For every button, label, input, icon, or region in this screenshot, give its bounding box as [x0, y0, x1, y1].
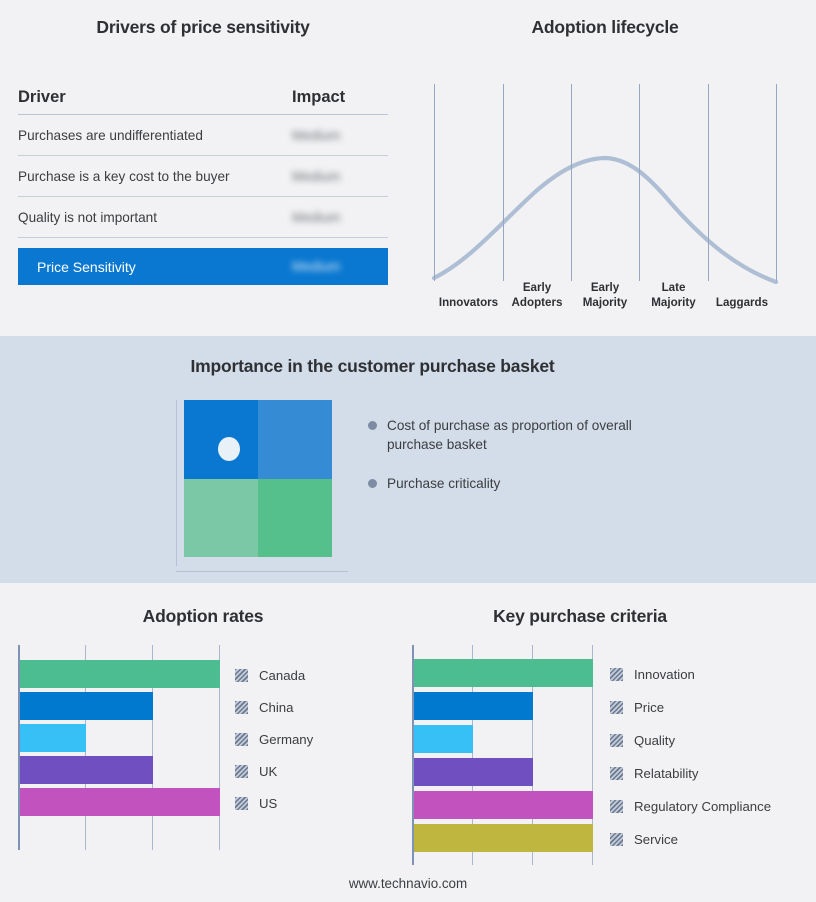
quadrant-matrix: [176, 400, 348, 572]
lifecycle-segment-laggards: Laggards: [708, 296, 776, 311]
bar-us: [20, 788, 220, 816]
lifecycle-divider: [503, 84, 504, 281]
legend-item: Quality: [610, 724, 771, 757]
lifecycle-curve: [430, 84, 780, 310]
adoption-rates-plot: [18, 645, 222, 850]
bar-regulatory-compliance: [414, 791, 593, 819]
legend-swatch-icon: [610, 734, 623, 747]
segment-line2: Innovators: [434, 296, 503, 311]
summary-impact-value: Medium: [292, 259, 388, 274]
legend-item: US: [235, 787, 313, 819]
basket-legend: Cost of purchase as proportion of overal…: [368, 416, 668, 513]
lifecycle-divider: [776, 84, 777, 281]
segment-line2: Majority: [639, 296, 708, 311]
legend-swatch-icon: [610, 668, 623, 681]
legend-swatch-icon: [610, 800, 623, 813]
table-header-row: Driver Impact: [18, 88, 388, 115]
quadrant-grid: [184, 400, 332, 557]
bullet-icon: [368, 479, 377, 488]
segment-line1: Early: [503, 281, 571, 296]
legend-item: Relatability: [610, 757, 771, 790]
lifecycle-segment-early-majority: Early Majority: [571, 281, 639, 310]
legend-label: Regulatory Compliance: [634, 799, 771, 814]
column-header-impact: Impact: [292, 88, 388, 107]
price-sensitivity-summary-row: Price Sensitivity Medium: [18, 248, 388, 285]
legend-label: Cost of purchase as proportion of overal…: [387, 416, 642, 454]
legend-label: Innovation: [634, 667, 695, 682]
key-purchase-criteria-chart: Innovation Price Quality Relatability Re…: [412, 645, 808, 865]
legend-swatch-icon: [235, 797, 248, 810]
driver-name: Quality is not important: [18, 210, 292, 225]
quadrant-cell-bottom-right: [258, 479, 332, 558]
legend-item: Innovation: [610, 658, 771, 691]
legend-label: Price: [634, 700, 664, 715]
bar-germany: [20, 724, 86, 752]
bar-relatability: [414, 758, 533, 786]
lifecycle-divider: [434, 84, 435, 281]
legend-swatch-icon: [235, 765, 248, 778]
table-row: Purchase is a key cost to the buyer Medi…: [18, 156, 388, 197]
bar-canada: [20, 660, 220, 688]
legend-label: Canada: [259, 668, 305, 683]
impact-value: Medium: [292, 128, 388, 143]
legend-item: Germany: [235, 723, 313, 755]
adoption-rates-panel-title: Adoption rates: [18, 606, 388, 627]
adoption-rates-legend: Canada China Germany UK US: [235, 659, 313, 819]
bar-innovation: [414, 659, 593, 687]
legend-swatch-icon: [610, 767, 623, 780]
legend-swatch-icon: [235, 733, 248, 746]
quadrant-cell-bottom-left: [184, 479, 258, 558]
legend-label: US: [259, 796, 277, 811]
driver-name: Purchase is a key cost to the buyer: [18, 169, 292, 184]
lifecycle-divider: [639, 84, 640, 281]
bar-quality: [414, 725, 473, 753]
summary-label: Price Sensitivity: [37, 259, 292, 275]
legend-item: Canada: [235, 659, 313, 691]
legend-item: Price: [610, 691, 771, 724]
driver-name: Purchases are undifferentiated: [18, 128, 292, 143]
infographic-page: Drivers of price sensitivity Driver Impa…: [0, 0, 816, 902]
criteria-panel-title: Key purchase criteria: [412, 606, 748, 627]
legend-label: UK: [259, 764, 277, 779]
table-row: Quality is not important Medium: [18, 197, 388, 238]
quadrant-cell-top-right: [258, 400, 332, 479]
legend-item: Cost of purchase as proportion of overal…: [368, 416, 668, 454]
legend-item: Regulatory Compliance: [610, 790, 771, 823]
purchase-basket-panel: Importance in the customer purchase bask…: [0, 336, 816, 583]
drivers-table: Driver Impact Purchases are undifferenti…: [18, 88, 388, 285]
criteria-legend: Innovation Price Quality Relatability Re…: [610, 658, 771, 856]
column-header-driver: Driver: [18, 88, 292, 107]
legend-item: UK: [235, 755, 313, 787]
bullet-icon: [368, 421, 377, 430]
table-row: Purchases are undifferentiated Medium: [18, 115, 388, 156]
basket-panel-title: Importance in the customer purchase bask…: [0, 356, 745, 377]
lifecycle-segment-early-adopters: Early Adopters: [503, 281, 571, 310]
bar-price: [414, 692, 533, 720]
quadrant-x-axis: [176, 571, 348, 572]
impact-value: Medium: [292, 169, 388, 184]
segment-line2: Majority: [571, 296, 639, 311]
legend-label: Relatability: [634, 766, 699, 781]
segment-line1: Early: [571, 281, 639, 296]
legend-item: Purchase criticality: [368, 474, 668, 493]
quadrant-y-axis: [176, 400, 177, 566]
lifecycle-divider: [708, 84, 709, 281]
lifecycle-divider: [571, 84, 572, 281]
footer-url: www.technavio.com: [0, 876, 816, 891]
segment-line1: Late: [639, 281, 708, 296]
legend-label: Germany: [259, 732, 313, 747]
legend-swatch-icon: [235, 669, 248, 682]
drivers-panel-title: Drivers of price sensitivity: [18, 17, 388, 38]
adoption-rates-chart: Canada China Germany UK US: [18, 645, 388, 850]
legend-swatch-icon: [610, 833, 623, 846]
lifecycle-segment-innovators: Innovators: [434, 296, 503, 311]
lifecycle-panel-title: Adoption lifecycle: [430, 17, 780, 38]
legend-label: China: [259, 700, 293, 715]
bar-uk: [20, 756, 153, 784]
lifecycle-segment-late-majority: Late Majority: [639, 281, 708, 310]
legend-item: Service: [610, 823, 771, 856]
legend-label: Quality: [634, 733, 675, 748]
legend-item: China: [235, 691, 313, 723]
quadrant-position-marker: [218, 437, 240, 461]
criteria-plot: [412, 645, 596, 865]
segment-line2: Laggards: [708, 296, 776, 311]
legend-label: Service: [634, 832, 678, 847]
adoption-lifecycle-chart: Innovators Early Adopters Early Majority…: [430, 84, 780, 310]
legend-label: Purchase criticality: [387, 474, 500, 493]
bar-china: [20, 692, 153, 720]
legend-swatch-icon: [235, 701, 248, 714]
impact-value: Medium: [292, 210, 388, 225]
legend-swatch-icon: [610, 701, 623, 714]
segment-line2: Adopters: [503, 296, 571, 311]
bar-service: [414, 824, 593, 852]
